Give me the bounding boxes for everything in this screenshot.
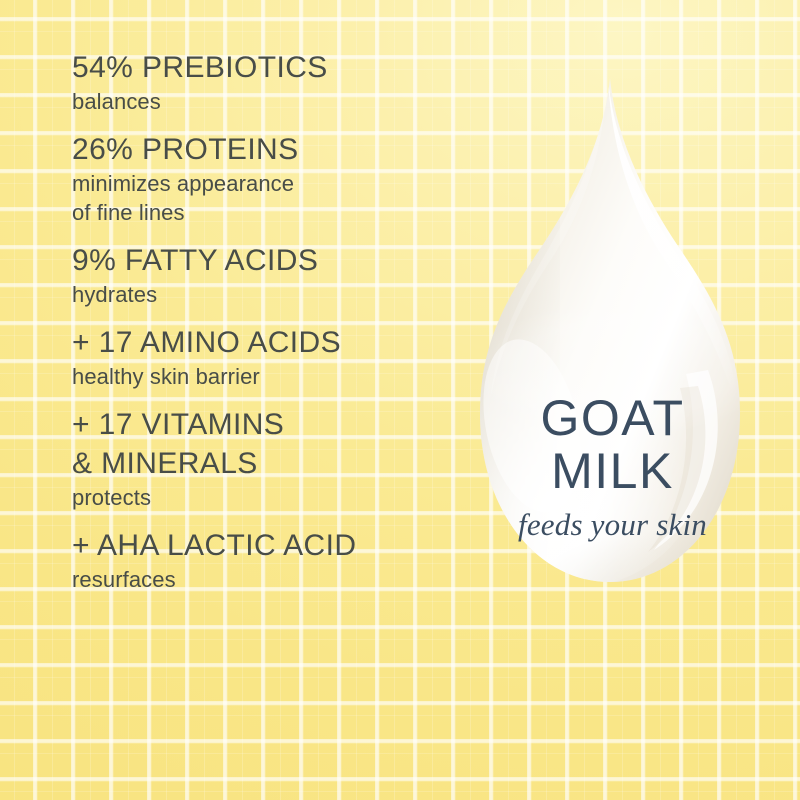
fact-headline: 9% FATTY ACIDS [72,241,452,280]
list-item: 54% PREBIOTICS balances [72,48,452,116]
list-item: + AHA LACTIC ACID resurfaces [72,526,452,594]
fact-subtext: balances [72,87,452,116]
fact-subtext: resurfaces [72,565,452,594]
list-item: 9% FATTY ACIDS hydrates [72,241,452,309]
fact-subtext: protects [72,483,452,512]
fact-subtext: hydrates [72,280,452,309]
fact-headline: + 17 AMINO ACIDS [72,323,452,362]
fact-subtext: minimizes appearance of fine lines [72,169,452,227]
milk-droplet-illustration [440,70,785,650]
list-item: + 17 VITAMINS & MINERALS protects [72,405,452,512]
list-item: + 17 AMINO ACIDS healthy skin barrier [72,323,452,391]
fact-headline: + AHA LACTIC ACID [72,526,452,565]
list-item: 26% PROTEINS minimizes appearance of fin… [72,130,452,227]
ingredient-fact-list: 54% PREBIOTICS balances 26% PROTEINS min… [72,48,452,594]
fact-headline: 54% PREBIOTICS [72,48,452,87]
fact-headline: + 17 VITAMINS & MINERALS [72,405,452,483]
poster-canvas: 54% PREBIOTICS balances 26% PROTEINS min… [0,0,800,800]
fact-headline: 26% PROTEINS [72,130,452,169]
fact-subtext: healthy skin barrier [72,362,452,391]
